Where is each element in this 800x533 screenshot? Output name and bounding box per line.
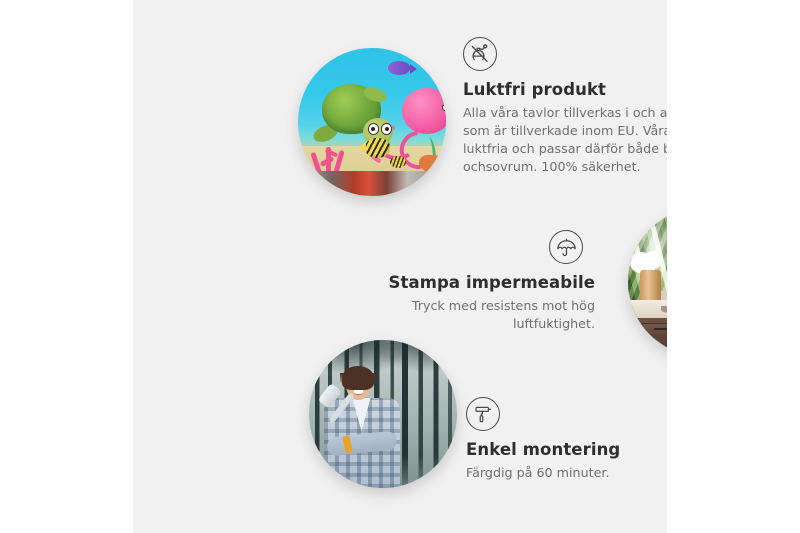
woman-figure <box>321 370 404 488</box>
photo-bottom-strip <box>298 171 446 196</box>
feature-waterproof: Stampa impermeabile Tryck med resistens … <box>333 230 595 333</box>
bathroom-botanical-photo[interactable]: Bathroom with green botanical wallpaper,… <box>628 208 667 356</box>
feature-description: Tryck med resistens mot hög luftfuktighe… <box>333 297 595 333</box>
wooden-vanity <box>634 318 667 356</box>
vanity-drawer <box>642 323 667 338</box>
woman-smile <box>354 390 363 395</box>
feature-odorless: Luktfri produkt Alla våra tavlor tillver… <box>463 37 667 176</box>
underwater-cartoon-photo[interactable]: Cartoon underwater scene with green turt… <box>298 48 446 196</box>
screenshot-root: Cartoon underwater scene with green turt… <box>0 0 800 533</box>
octopus-eye <box>442 104 446 110</box>
turtle-eye <box>368 123 380 135</box>
woman-hair <box>342 366 373 390</box>
woman-paint-roller-photo[interactable]: Smiling woman holding a paint roller in … <box>309 340 457 488</box>
drawer-handle <box>654 328 667 330</box>
underwater-scene <box>298 48 446 196</box>
feature-title: Enkel montering <box>466 440 667 459</box>
no-fragrance-icon <box>463 37 497 71</box>
small-yellow-fish <box>390 156 406 168</box>
feature-description: Färgdig på 60 minuter. <box>466 464 667 482</box>
bathroom-scene <box>628 208 667 356</box>
product-feature-panel: Cartoon underwater scene with green turt… <box>133 0 667 533</box>
yellow-striped-fish <box>365 138 390 157</box>
feature-title: Luktfri produkt <box>463 80 667 99</box>
octopus-head <box>402 88 446 134</box>
feature-description: Alla våra tavlor tillverkas i och av pro… <box>463 104 667 176</box>
paint-roller-icon <box>466 397 500 431</box>
feature-easy-assembly: Enkel montering Färgdig på 60 minuter. <box>466 397 667 482</box>
umbrella-icon <box>549 230 583 264</box>
feature-title: Stampa impermeabile <box>333 273 595 292</box>
forest-wallpaper-scene <box>309 340 457 488</box>
purple-fish <box>388 61 410 74</box>
